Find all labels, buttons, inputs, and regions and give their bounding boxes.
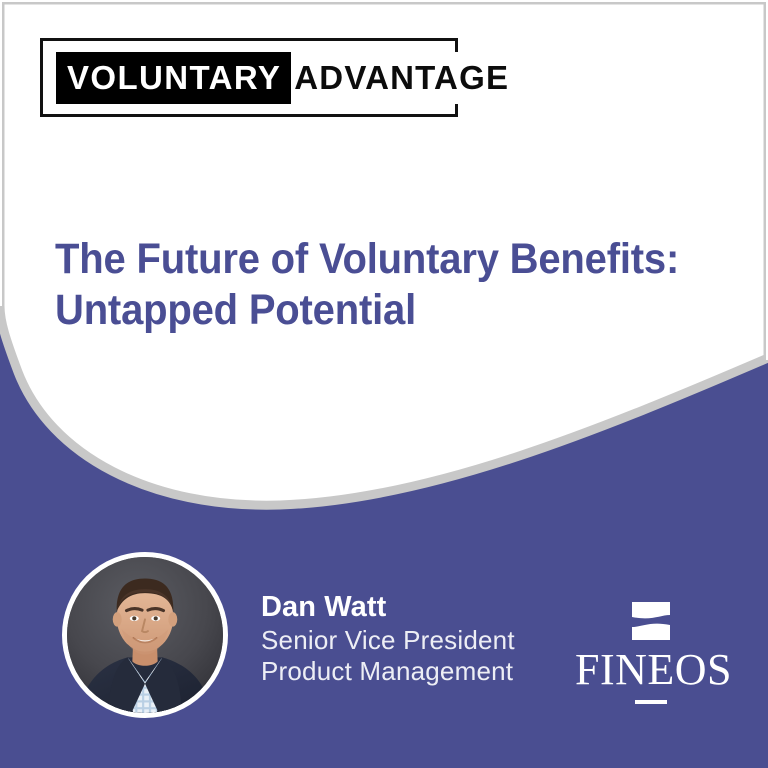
promo-card: VOLUNTARY ADVANTAGE The Future of Volunt… (0, 0, 768, 768)
fineos-wordmark: FINEOS (575, 648, 727, 692)
hourglass-icon (630, 602, 672, 640)
page-title-line-1: The Future of Voluntary Benefits: (55, 234, 697, 285)
speaker-role-line-2: Product Management (261, 656, 515, 688)
avatar (62, 552, 228, 718)
speaker-details: Dan Watt Senior Vice President Product M… (261, 591, 515, 688)
fineos-logo: FINEOS (575, 602, 727, 704)
fineos-underline-rule (635, 700, 667, 704)
voluntary-advantage-logo: VOLUNTARY ADVANTAGE (40, 38, 458, 117)
page-title: The Future of Voluntary Benefits: Untapp… (55, 234, 697, 335)
logo-word-advantage: ADVANTAGE (291, 52, 515, 104)
logo-word-voluntary: VOLUNTARY (56, 52, 291, 104)
page-title-line-2: Untapped Potential (55, 285, 697, 336)
top-edge-mask (0, 0, 768, 2)
avatar-photo (67, 557, 223, 713)
voluntary-advantage-logo-inner: VOLUNTARY ADVANTAGE (56, 52, 515, 104)
speaker-role-line-1: Senior Vice President (261, 625, 515, 657)
left-edge-mask (0, 0, 2, 306)
speaker-name: Dan Watt (261, 591, 515, 625)
